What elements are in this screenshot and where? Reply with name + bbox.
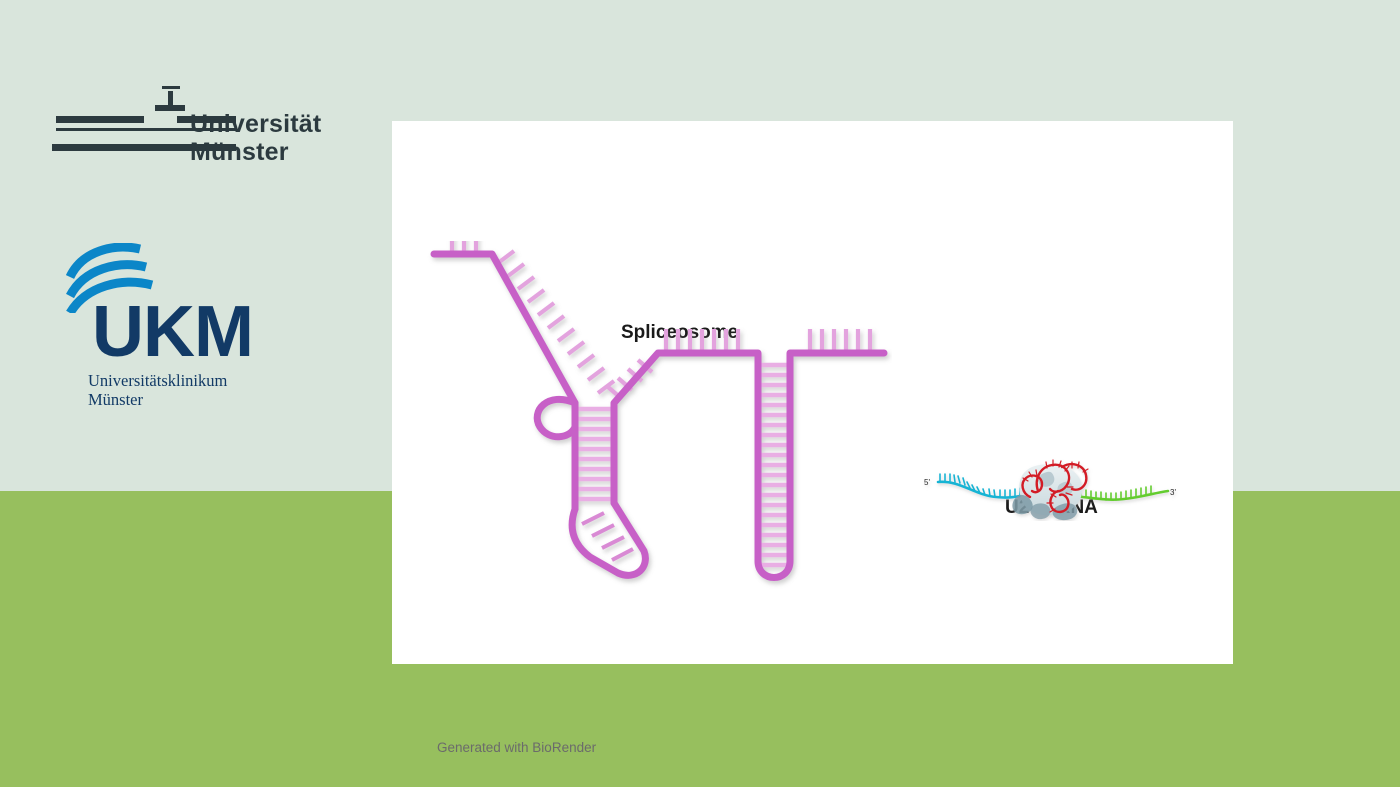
ukm-logo: UKM Universitätsklinikum Münster: [66, 243, 281, 401]
ukm-acronym: UKM: [92, 296, 253, 368]
logo-bar: [56, 116, 144, 123]
rung-group-right-hairpin: [758, 365, 790, 565]
rna-backbone-left: [434, 254, 575, 509]
logo-bar: [162, 86, 180, 89]
rung-group-arm-left: [452, 241, 614, 393]
ukm-subtitle: Universitätsklinikum Münster: [88, 371, 227, 409]
five-prime-strand: [938, 474, 1032, 498]
uni-muenster-logo: Universität Münster: [50, 84, 320, 164]
five-prime-label: 5': [924, 478, 930, 487]
uni-muenster-wordmark: Universität Münster: [190, 110, 321, 166]
logo-bar: [155, 105, 185, 111]
figure-panel: Spliceosome U2 snRNA: [392, 121, 1233, 664]
three-prime-strand: [1074, 486, 1168, 500]
rung-group-top-bar-left: [666, 329, 738, 353]
rna-backbone-center-right: [614, 353, 758, 561]
u2-snrna-diagram: 5' 3': [922, 451, 1182, 521]
logo-bar: [168, 91, 173, 105]
protein-complex: [1012, 464, 1082, 520]
spliceosome-diagram: [422, 241, 892, 641]
rung-group-top-bar-right: [810, 329, 870, 353]
biorender-credit: Generated with BioRender: [437, 740, 596, 755]
junction-loop: [537, 399, 575, 436]
three-prime-label: 3': [1170, 488, 1176, 497]
rung-group-central-stem: [575, 409, 614, 499]
uni-muenster-logo-mark: [50, 84, 188, 164]
bottom-terminal-loop: [572, 503, 645, 575]
